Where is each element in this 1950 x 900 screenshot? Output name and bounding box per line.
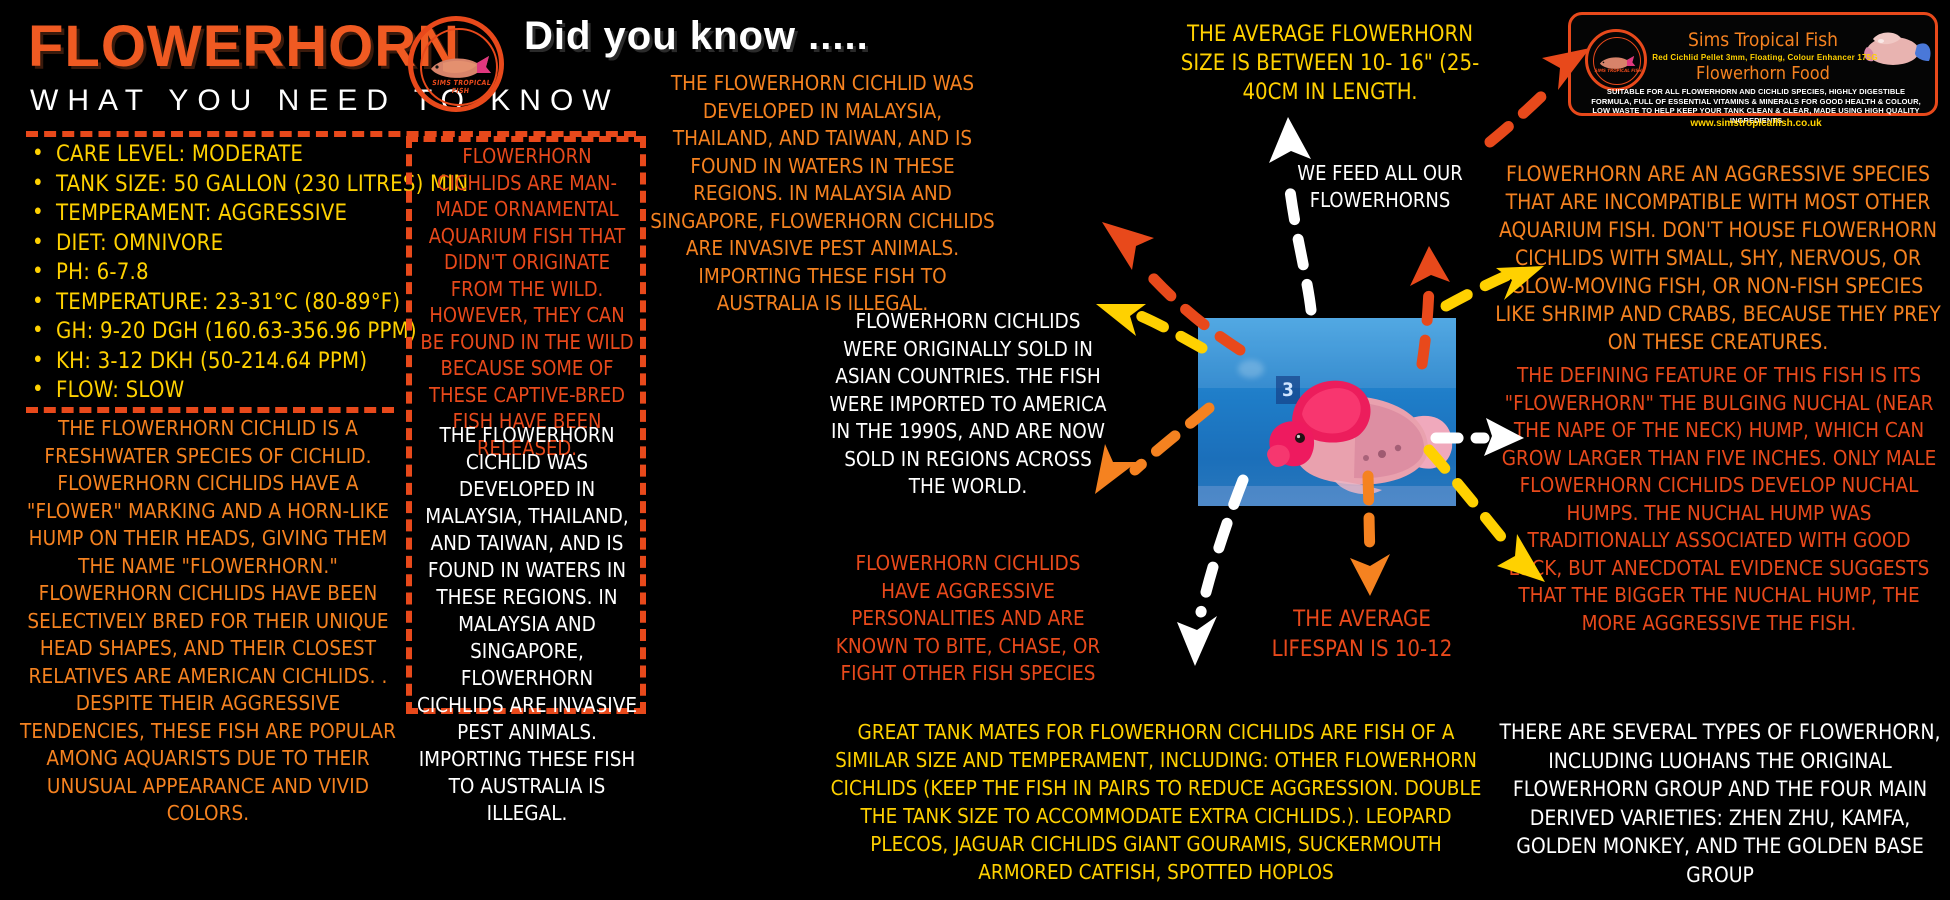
divider-mid [26, 407, 394, 413]
aggressive-personalities-paragraph: FLOWERHORN CICHLIDS HAVE AGGRESSIVE PERS… [828, 550, 1108, 688]
arrow-left-yellow-icon [1090, 290, 1210, 360]
developed-in-paragraph: THE FLOWERHORN CICHLID WAS DEVELOPED IN … [416, 422, 638, 827]
types-paragraph: THERE ARE SEVERAL TYPES OF FLOWERHORN, I… [1494, 718, 1946, 889]
list-item: KH: 3-12 DKH (50-214.64 PPM) [26, 347, 416, 377]
originally-sold-paragraph: FLOWERHORN CICHLIDS WERE ORIGINALLY SOLD… [828, 308, 1108, 501]
infographic-canvas: FLOWERHORN WHAT YOU NEED TO KNOW CARE LE… [0, 0, 1950, 900]
did-you-know-heading: Did you know ..... [524, 14, 869, 59]
product-logo-text: SIMS TROPICAL FISH [1594, 69, 1643, 74]
defining-feature-paragraph: THE DEFINING FEATURE OF THIS FISH IS ITS… [1498, 362, 1940, 637]
developed-in-top-paragraph: THE FLOWERHORN CICHLID WAS DEVELOPED IN … [650, 70, 995, 318]
arrow-upright-orange-icon [1480, 40, 1600, 150]
list-item: TEMPERATURE: 23-31°C (80-89°F) [26, 288, 416, 318]
arrow-down-orange-icon [1340, 470, 1400, 600]
average-size-text: THE AVERAGE FLOWERHORN SIZE IS BETWEEN 1… [1175, 20, 1485, 107]
product-title: Flowerhorn Food [1663, 63, 1863, 84]
arrow-down-white-icon [1165, 470, 1255, 670]
sims-logo-text: SIMS TROPICAL FISH [422, 79, 500, 95]
tank-mates-paragraph: GREAT TANK MATES FOR FLOWERHORN CICHLIDS… [826, 718, 1486, 886]
flowerhorn-thumbnail-icon [1859, 27, 1935, 73]
page-subtitle: WHAT YOU NEED TO KNOW [30, 84, 620, 118]
arrow-right-white-icon [1432, 410, 1532, 470]
average-lifespan-text: THE AVERAGE LIFESPAN IS 10-12 [1262, 605, 1462, 665]
intro-paragraph: THE FLOWERHORN CICHLID IS A FRESHWATER S… [18, 415, 398, 828]
list-item: GH: 9-20 DGH (160.63-356.96 PPM) [26, 317, 416, 347]
list-item: FLOW: SLOW [26, 376, 416, 406]
spec-list: CARE LEVEL: MODERATE TANK SIZE: 50 GALLO… [26, 140, 416, 406]
incompatible-paragraph: FLOWERHORN ARE AN AGGRESSIVE SPECIES THA… [1492, 160, 1944, 356]
arrow-up-white-icon [1255, 105, 1325, 315]
product-brand: Sims Tropical Fish [1663, 29, 1863, 51]
arrow-right-yellow-icon [1440, 250, 1550, 320]
product-box[interactable]: SIMS TROPICAL FISH Sims Tropical Fish Re… [1568, 12, 1938, 116]
page-title: FLOWERHORN [28, 18, 460, 76]
list-item: TANK SIZE: 50 GALLON (230 LITRES) MIN [26, 170, 416, 200]
product-subtitle: Red Cichlid Pellet 3mm, Floating, Colour… [1641, 53, 1889, 62]
list-item: TEMPERAMENT: AGGRESSIVE [26, 199, 416, 229]
list-item: DIET: OMNIVORE [26, 229, 416, 259]
list-item: PH: 6-7.8 [26, 258, 416, 288]
man-made-paragraph: FLOWERHORN CICHLIDS ARE MAN-MADE ORNAMEN… [418, 143, 636, 461]
sims-logo-circle: SIMS TROPICAL FISH [408, 16, 504, 112]
product-url[interactable]: www.simstropicalfish.co.uk [1591, 118, 1921, 129]
list-item: CARE LEVEL: MODERATE [26, 140, 416, 170]
